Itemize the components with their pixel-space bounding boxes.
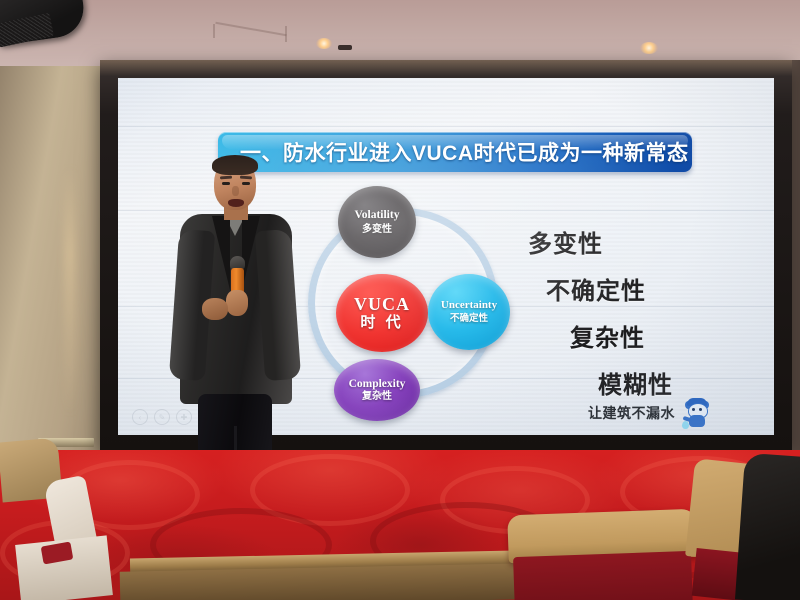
bubble-vuca-cn: 时 代: [360, 315, 403, 332]
slide-title-banner: 一、防水行业进入VUCA时代已成为一种新常态: [218, 132, 692, 172]
bubble-volatility-en: Volatility: [355, 209, 400, 221]
blue-cartoon-mascot-icon: [683, 398, 711, 428]
bubble-volatility-cn: 多变性: [362, 224, 392, 235]
bubble-complexity-en: Complexity: [349, 378, 406, 390]
bubble-volatility: Volatility 多变性: [338, 186, 416, 258]
speaker-grill: [0, 13, 54, 48]
ceiling-seam: [213, 24, 215, 38]
ceiling-seam: [285, 26, 287, 42]
ceiling-seam: [215, 22, 286, 36]
mascot-eye-icon: [699, 408, 702, 411]
wall-light-glow: [64, 166, 76, 416]
bubble-uncertainty-cn: 不确定性: [450, 314, 488, 324]
bubble-uncertainty: Uncertainty 不确定性: [428, 274, 510, 350]
keyword-item: 模糊性: [518, 365, 768, 400]
ceiling-speaker: [0, 0, 87, 46]
keyword-item: 不确定性: [518, 271, 768, 306]
chair-seat: [513, 551, 693, 600]
presenter-mouth: [228, 199, 244, 207]
presenter-hand: [202, 298, 228, 320]
slogan-block: 让建筑不漏水: [588, 398, 711, 428]
mascot-eye-icon: [692, 408, 695, 411]
presenter-lapel: [242, 216, 260, 290]
keyword-list: 多变性 不确定性 复杂性 模糊性: [518, 224, 768, 412]
slogan-text: 让建筑不漏水: [588, 403, 675, 423]
presenter-eye: [222, 182, 230, 185]
chair-foreground-center: [508, 512, 698, 600]
bubble-complexity-cn: 复杂性: [362, 391, 392, 402]
chair-white-covered: [18, 478, 128, 600]
bubble-uncertainty-en: Uncertainty: [441, 300, 497, 312]
presenter-eye: [242, 182, 250, 185]
bubble-complexity: Complexity 复杂性: [334, 359, 420, 421]
ceiling-fixture: [338, 45, 352, 50]
presenter-lapel: [212, 216, 230, 290]
conference-photo: 一、防水行业进入VUCA时代已成为一种新常态 Volatility 多变性 VU…: [0, 0, 800, 600]
ceiling-light: [640, 42, 658, 54]
bubble-vuca-center: VUCA 时 代: [336, 274, 428, 352]
left-wall-panel: [0, 66, 104, 486]
water-drop-icon: [682, 421, 689, 429]
presenter-nose: [232, 186, 239, 196]
bubble-vuca-en: VUCA: [354, 295, 410, 314]
keyword-item: 复杂性: [518, 318, 768, 353]
ceiling-light: [316, 38, 332, 49]
presenter-hand-holding-mic: [226, 290, 248, 316]
mascot-body-icon: [689, 415, 705, 427]
screen-scanline: [118, 126, 774, 127]
frame-sheen: [100, 60, 792, 76]
slide-title: 一、防水行业进入VUCA时代已成为一种新常态: [218, 137, 689, 167]
chair-dark-foreground: [735, 453, 800, 600]
keyword-item: 多变性: [518, 224, 768, 259]
prev-slide-icon[interactable]: ‹: [132, 409, 148, 425]
